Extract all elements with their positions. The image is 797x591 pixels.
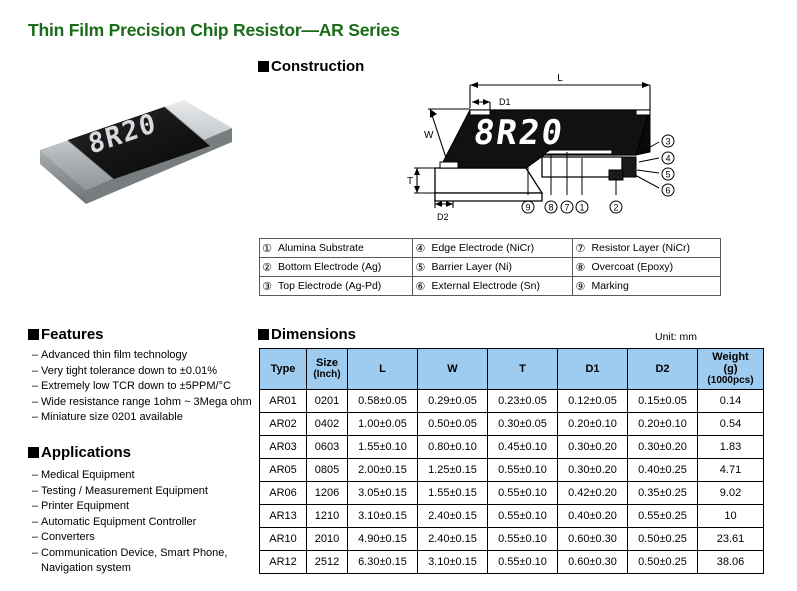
cell-w: 2.40±0.15 [418, 505, 488, 528]
construction-heading: Construction [258, 58, 364, 75]
legend-number: ② [260, 258, 275, 277]
list-item-label: Miniature size 0201 available [41, 410, 258, 426]
list-item-label: Automatic Equipment Controller [41, 515, 262, 531]
product-photo-image: 8R20 [24, 92, 236, 220]
legend-number: ⑥ [413, 277, 428, 296]
cell-w: 1.55±0.15 [418, 482, 488, 505]
bullet-square-icon [258, 61, 269, 72]
cell-d1: 0.60±0.30 [558, 551, 628, 574]
cell-l: 4.90±0.15 [348, 528, 418, 551]
column-header-label: D2 [655, 363, 669, 375]
cell-t: 0.55±0.10 [488, 551, 558, 574]
list-item-label: Testing / Measurement Equipment [41, 484, 262, 500]
cell-size: 2010 [307, 528, 348, 551]
list-item-label: Extremely low TCR down to ±5PPM/°C [41, 379, 258, 395]
cell-weight: 38.06 [698, 551, 764, 574]
features-list: – Advanced thin film technology – Very t… [32, 348, 258, 426]
dash-icon: – [32, 379, 41, 395]
cell-size: 1210 [307, 505, 348, 528]
list-item: – Converters [32, 530, 262, 546]
list-item: – Communication Device, Smart Phone, Nav… [32, 546, 262, 577]
cell-type: AR05 [260, 459, 307, 482]
legend-text: Alumina Substrate [274, 239, 413, 258]
product-photo: 8R20 [24, 92, 236, 220]
svg-text:9: 9 [525, 203, 530, 213]
list-item: – Testing / Measurement Equipment [32, 484, 262, 500]
cell-type: AR13 [260, 505, 307, 528]
cell-w: 3.10±0.15 [418, 551, 488, 574]
legend-text: Overcoat (Epoxy) [587, 258, 720, 277]
column-header-weight: Weight (g) (1000pcs) [698, 349, 764, 390]
column-header-d2: D2 [628, 349, 698, 390]
cell-l: 6.30±0.15 [348, 551, 418, 574]
dash-icon: – [32, 530, 41, 546]
table-row: AR10 2010 4.90±0.15 2.40±0.15 0.55±0.10 … [260, 528, 764, 551]
construction-legend-table: ① Alumina Substrate ④ Edge Electrode (Ni… [259, 238, 721, 296]
cell-l: 3.10±0.15 [348, 505, 418, 528]
cell-weight: 1.83 [698, 436, 764, 459]
cell-size: 1206 [307, 482, 348, 505]
svg-text:6: 6 [665, 186, 670, 196]
cell-l: 2.00±0.15 [348, 459, 418, 482]
svg-text:2: 2 [613, 203, 618, 213]
cell-t: 0.55±0.10 [488, 528, 558, 551]
list-item-label: Advanced thin film technology [41, 348, 258, 364]
column-header-sublabel: (g) [698, 363, 763, 375]
list-item: – Wide resistance range 1ohm ~ 3Mega ohm [32, 395, 258, 411]
table-row: AR06 1206 3.05±0.15 1.55±0.15 0.55±0.10 … [260, 482, 764, 505]
list-item: – Advanced thin film technology [32, 348, 258, 364]
applications-list: – Medical Equipment – Testing / Measurem… [32, 468, 262, 577]
cell-d2: 0.20±0.10 [628, 413, 698, 436]
cell-d1: 0.20±0.10 [558, 413, 628, 436]
cell-d1: 0.30±0.20 [558, 436, 628, 459]
list-item: – Automatic Equipment Controller [32, 515, 262, 531]
cell-size: 0201 [307, 390, 348, 413]
table-row: AR05 0805 2.00±0.15 1.25±0.15 0.55±0.10 … [260, 459, 764, 482]
legend-text: Marking [587, 277, 720, 296]
list-item-label: Converters [41, 530, 262, 546]
table-row: AR01 0201 0.58±0.05 0.29±0.05 0.23±0.05 … [260, 390, 764, 413]
cell-d1: 0.30±0.20 [558, 459, 628, 482]
column-header-label: T [519, 363, 526, 375]
cell-l: 1.00±0.05 [348, 413, 418, 436]
cell-w: 1.25±0.15 [418, 459, 488, 482]
cell-t: 0.55±0.10 [488, 505, 558, 528]
legend-number: ④ [413, 239, 428, 258]
cell-type: AR01 [260, 390, 307, 413]
cell-w: 2.40±0.15 [418, 528, 488, 551]
cell-weight: 0.54 [698, 413, 764, 436]
page-title: Thin Film Precision Chip Resistor—AR Ser… [28, 20, 400, 41]
features-heading-label: Features [41, 326, 104, 343]
legend-row: ② Bottom Electrode (Ag) ⑤ Barrier Layer … [260, 258, 721, 277]
cell-t: 0.23±0.05 [488, 390, 558, 413]
column-header-l: L [348, 349, 418, 390]
cell-weight: 0.14 [698, 390, 764, 413]
cell-w: 0.50±0.05 [418, 413, 488, 436]
cell-d1: 0.60±0.30 [558, 528, 628, 551]
legend-number: ⑧ [573, 258, 588, 277]
cell-weight: 4.71 [698, 459, 764, 482]
cell-d2: 0.50±0.25 [628, 551, 698, 574]
column-header-label: Size [307, 357, 347, 369]
cell-t: 0.55±0.10 [488, 482, 558, 505]
list-item: – Extremely low TCR down to ±5PPM/°C [32, 379, 258, 395]
cell-type: AR10 [260, 528, 307, 551]
cell-weight: 23.61 [698, 528, 764, 551]
svg-text:8: 8 [548, 203, 553, 213]
list-item-label: Communication Device, Smart Phone, Navig… [41, 546, 262, 577]
list-item: – Very tight tolerance down to ±0.01% [32, 364, 258, 380]
dash-icon: – [32, 364, 41, 380]
svg-text:5: 5 [665, 170, 670, 180]
column-header-label: Weight [698, 351, 763, 363]
cell-type: AR06 [260, 482, 307, 505]
cell-type: AR12 [260, 551, 307, 574]
bullet-square-icon [258, 329, 269, 340]
dash-icon: – [32, 468, 41, 484]
legend-text: External Electrode (Sn) [427, 277, 573, 296]
cell-size: 2512 [307, 551, 348, 574]
column-header-d1: D1 [558, 349, 628, 390]
svg-text:L: L [557, 73, 563, 84]
dimensions-table: Type Size (Inch) L W T D1 D2 Weight [259, 348, 764, 574]
construction-heading-label: Construction [271, 58, 364, 75]
dimensions-heading: Dimensions [258, 326, 356, 343]
table-row: AR02 0402 1.00±0.05 0.50±0.05 0.30±0.05 … [260, 413, 764, 436]
svg-text:W: W [424, 130, 434, 141]
legend-number: ⑦ [573, 239, 588, 258]
svg-text:T: T [407, 176, 413, 187]
legend-number: ③ [260, 277, 275, 296]
list-item-label: Medical Equipment [41, 468, 262, 484]
column-header-sublabel: (Inch) [307, 369, 347, 381]
list-item-label: Wide resistance range 1ohm ~ 3Mega ohm [41, 395, 258, 411]
bullet-square-icon [28, 329, 39, 340]
list-item: – Printer Equipment [32, 499, 262, 515]
cell-d2: 0.50±0.25 [628, 528, 698, 551]
dash-icon: – [32, 410, 41, 426]
column-header-label: W [447, 363, 457, 375]
table-row: AR13 1210 3.10±0.15 2.40±0.15 0.55±0.10 … [260, 505, 764, 528]
cell-w: 0.29±0.05 [418, 390, 488, 413]
legend-text: Bottom Electrode (Ag) [274, 258, 413, 277]
table-row: AR03 0603 1.55±0.10 0.80±0.10 0.45±0.10 … [260, 436, 764, 459]
dash-icon: – [32, 515, 41, 531]
list-item: – Medical Equipment [32, 468, 262, 484]
svg-text:7: 7 [564, 203, 569, 213]
dash-icon: – [32, 348, 41, 364]
legend-row: ① Alumina Substrate ④ Edge Electrode (Ni… [260, 239, 721, 258]
applications-heading: Applications [28, 444, 131, 461]
diagram-marking: 8R20 [471, 113, 566, 153]
cell-d2: 0.30±0.20 [628, 436, 698, 459]
legend-text: Edge Electrode (NiCr) [427, 239, 573, 258]
bullet-square-icon [28, 447, 39, 458]
column-header-label: Type [271, 363, 296, 375]
cell-t: 0.30±0.05 [488, 413, 558, 436]
cell-l: 3.05±0.15 [348, 482, 418, 505]
dash-icon: – [32, 484, 41, 500]
unit-label: Unit: mm [655, 331, 697, 343]
dash-icon: – [32, 499, 41, 515]
svg-text:8R20: 8R20 [471, 113, 566, 153]
column-header-t: T [488, 349, 558, 390]
svg-text:3: 3 [665, 137, 670, 147]
cell-w: 0.80±0.10 [418, 436, 488, 459]
table-row: AR12 2512 6.30±0.15 3.10±0.15 0.55±0.10 … [260, 551, 764, 574]
cell-l: 0.58±0.05 [348, 390, 418, 413]
construction-diagram-image: L D1 W T D2 [404, 62, 744, 230]
column-header-sublabel2: (1000pcs) [698, 375, 763, 387]
column-header-label: D1 [585, 363, 599, 375]
column-header-type: Type [260, 349, 307, 390]
cell-d2: 0.40±0.25 [628, 459, 698, 482]
legend-number: ⑤ [413, 258, 428, 277]
column-header-size: Size (Inch) [307, 349, 348, 390]
column-header-w: W [418, 349, 488, 390]
svg-text:D1: D1 [499, 97, 511, 107]
table-header-row: Type Size (Inch) L W T D1 D2 Weight [260, 349, 764, 390]
cell-d1: 0.42±0.20 [558, 482, 628, 505]
legend-row: ③ Top Electrode (Ag-Pd) ⑥ External Elect… [260, 277, 721, 296]
cell-type: AR03 [260, 436, 307, 459]
cell-t: 0.55±0.10 [488, 459, 558, 482]
cell-d1: 0.40±0.20 [558, 505, 628, 528]
construction-diagram: L D1 W T D2 [404, 62, 744, 230]
cell-d2: 0.35±0.25 [628, 482, 698, 505]
cell-weight: 10 [698, 505, 764, 528]
dimensions-heading-label: Dimensions [271, 326, 356, 343]
legend-text: Barrier Layer (Ni) [427, 258, 573, 277]
cell-t: 0.45±0.10 [488, 436, 558, 459]
features-heading: Features [28, 326, 104, 343]
list-item-label: Very tight tolerance down to ±0.01% [41, 364, 258, 380]
cell-size: 0402 [307, 413, 348, 436]
legend-text: Top Electrode (Ag-Pd) [274, 277, 413, 296]
column-header-label: L [379, 363, 386, 375]
svg-text:1: 1 [579, 203, 584, 213]
list-item-label: Printer Equipment [41, 499, 262, 515]
cell-d2: 0.15±0.05 [628, 390, 698, 413]
cell-d2: 0.55±0.25 [628, 505, 698, 528]
cell-size: 0603 [307, 436, 348, 459]
legend-number: ⑨ [573, 277, 588, 296]
cell-d1: 0.12±0.05 [558, 390, 628, 413]
dash-icon: – [32, 546, 41, 562]
dash-icon: – [32, 395, 41, 411]
cell-l: 1.55±0.10 [348, 436, 418, 459]
cell-weight: 9.02 [698, 482, 764, 505]
legend-number: ① [260, 239, 275, 258]
svg-text:D2: D2 [437, 212, 449, 222]
applications-heading-label: Applications [41, 444, 131, 461]
cell-size: 0805 [307, 459, 348, 482]
list-item: – Miniature size 0201 available [32, 410, 258, 426]
svg-text:4: 4 [665, 154, 670, 164]
cell-type: AR02 [260, 413, 307, 436]
legend-text: Resistor Layer (NiCr) [587, 239, 720, 258]
